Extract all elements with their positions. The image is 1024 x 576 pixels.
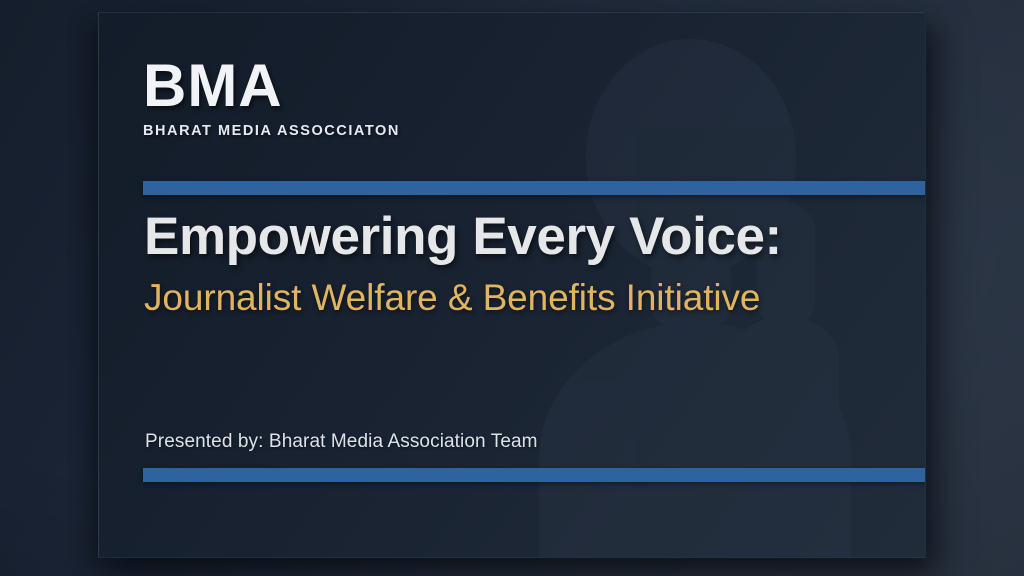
bma-logo: BMA BHARAT MEDIA ASSOCCIATON <box>143 57 400 139</box>
logo-organization-name: BHARAT MEDIA ASSOCCIATON <box>143 123 400 139</box>
logo-wordmark: BMA <box>143 57 400 116</box>
slide-subtitle: Journalist Welfare & Benefits Initiative <box>144 278 904 319</box>
top-divider-rule <box>143 181 926 195</box>
title-slide: BMA BHARAT MEDIA ASSOCCIATON Empowering … <box>98 12 926 558</box>
slide-title: Empowering Every Voice: <box>144 209 904 265</box>
presentation-canvas: BMA BHARAT MEDIA ASSOCCIATON Empowering … <box>0 0 1024 576</box>
presented-by-text: Presented by: Bharat Media Association T… <box>145 431 538 453</box>
headline-block: Empowering Every Voice: Journalist Welfa… <box>144 209 904 319</box>
bottom-divider-rule <box>143 468 926 482</box>
